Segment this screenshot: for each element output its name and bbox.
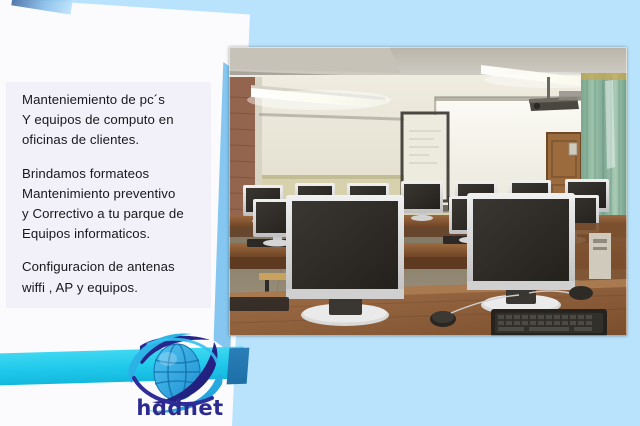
- service-description-text: Manteniemiento de pc´s Y equipos de comp…: [6, 82, 211, 308]
- text-line: Brindamos formateos: [22, 164, 205, 184]
- text-line: Manteniemiento de pc´s: [22, 90, 205, 110]
- slide-canvas: Manteniemiento de pc´s Y equipos de comp…: [0, 0, 640, 426]
- classroom-photo-illustration: [229, 47, 627, 336]
- paragraph-spacer: [22, 151, 205, 164]
- text-line: y Correctivo a tu parque de: [22, 204, 205, 224]
- text-line: wiffi , AP y equipos.: [22, 278, 205, 298]
- text-line: Y equipos de computo en: [22, 110, 205, 130]
- text-line: Mantenimiento preventivo: [22, 184, 205, 204]
- logo-wordmark: hddnet: [124, 396, 236, 420]
- classroom-photo: [229, 47, 627, 336]
- paragraph-spacer: [22, 244, 205, 257]
- text-line: Configuracion de antenas: [22, 257, 205, 277]
- text-line: oficinas de clientes.: [22, 130, 205, 150]
- text-line: Equipos informaticos.: [22, 224, 205, 244]
